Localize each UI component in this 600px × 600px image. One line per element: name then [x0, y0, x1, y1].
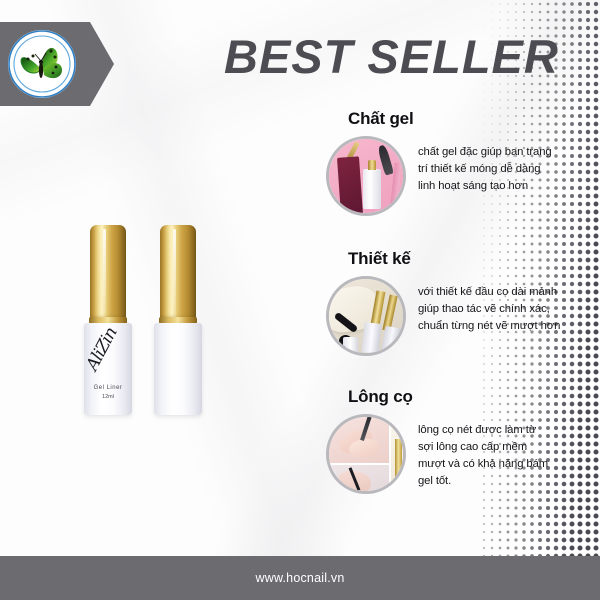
feature-text-line: trí thiết kế móng dễ dàng	[418, 161, 594, 178]
nail-collage-photo	[329, 417, 403, 491]
feature-text-line: với thiết kế đầu cọ dài mảnh	[418, 284, 594, 301]
feature-row: với thiết kế đầu cọ dài mảnh giúp thao t…	[326, 276, 594, 368]
feature-block-chat-gel: Chất gel chất gel đặc giúp bạn trang trí…	[326, 110, 594, 228]
bottle-body	[154, 323, 202, 415]
feature-description: lông cọ nét được làm từ sợi lông cao cấp…	[418, 422, 594, 491]
bottle-body: AliZin Gel Liner 12ml	[84, 323, 132, 415]
feature-text-line: lông cọ nét được làm từ	[418, 422, 594, 439]
feature-description: với thiết kế đầu cọ dài mảnh giúp thao t…	[418, 284, 594, 335]
feature-title: Thiết kế	[348, 250, 594, 269]
bottle-cap	[160, 225, 196, 321]
feature-title: Chất gel	[348, 110, 594, 129]
hero-product-image: AliZin Gel Liner 12ml	[78, 205, 218, 415]
product-name-label: Gel Liner	[84, 385, 132, 391]
cream-brush-photo	[329, 279, 403, 353]
feature-text-line: chất gel đặc giúp bạn trang	[418, 144, 594, 161]
product-bottle-right	[154, 225, 202, 415]
feature-row: lông cọ nét được làm từ sợi lông cao cấp…	[326, 414, 594, 506]
feature-text-line: sợi lông cao cấp mềm	[418, 439, 594, 456]
feature-text-line: mượt và có khả năng bám	[418, 456, 594, 473]
product-volume-label: 12ml	[84, 394, 132, 400]
feature-text-line: giúp thao tác vẽ chính xác,	[418, 301, 594, 318]
product-bottle-left: AliZin Gel Liner 12ml	[84, 225, 132, 415]
feature-description: chất gel đặc giúp bạn trang trí thiết kế…	[418, 144, 594, 195]
feature-thumbnail-thiet-ke	[326, 276, 406, 356]
feature-block-long-co: Lông cọ lông cọ nét được làm từ sợi lông…	[326, 388, 594, 506]
feature-thumbnail-chat-gel	[326, 136, 406, 216]
footer-bar: www.hocnail.vn	[0, 556, 600, 600]
logo-badge	[0, 22, 114, 106]
feature-text-line: gel tốt.	[418, 473, 594, 490]
feature-text-line: linh hoạt sáng tạo hơn	[418, 178, 594, 195]
pink-flatlay-photo	[329, 139, 403, 213]
bottle-cap	[90, 225, 126, 321]
feature-row: chất gel đặc giúp bạn trang trí thiết kế…	[326, 136, 594, 228]
website-url[interactable]: www.hocnail.vn	[256, 571, 345, 585]
feature-thumbnail-long-co	[326, 414, 406, 494]
feature-text-line: chuẩn từng nét vẽ mượt hơn	[418, 318, 594, 335]
brand-script-label: AliZin	[82, 335, 133, 384]
poster-canvas: BEST SELLER AliZin Gel Liner 12ml Chất g…	[0, 0, 600, 600]
feature-block-thiet-ke: Thiết kế với thiết kế đầu cọ dài mảnh gi…	[326, 250, 594, 368]
feature-title: Lông cọ	[348, 388, 594, 407]
page-title: BEST SELLER	[224, 33, 559, 80]
